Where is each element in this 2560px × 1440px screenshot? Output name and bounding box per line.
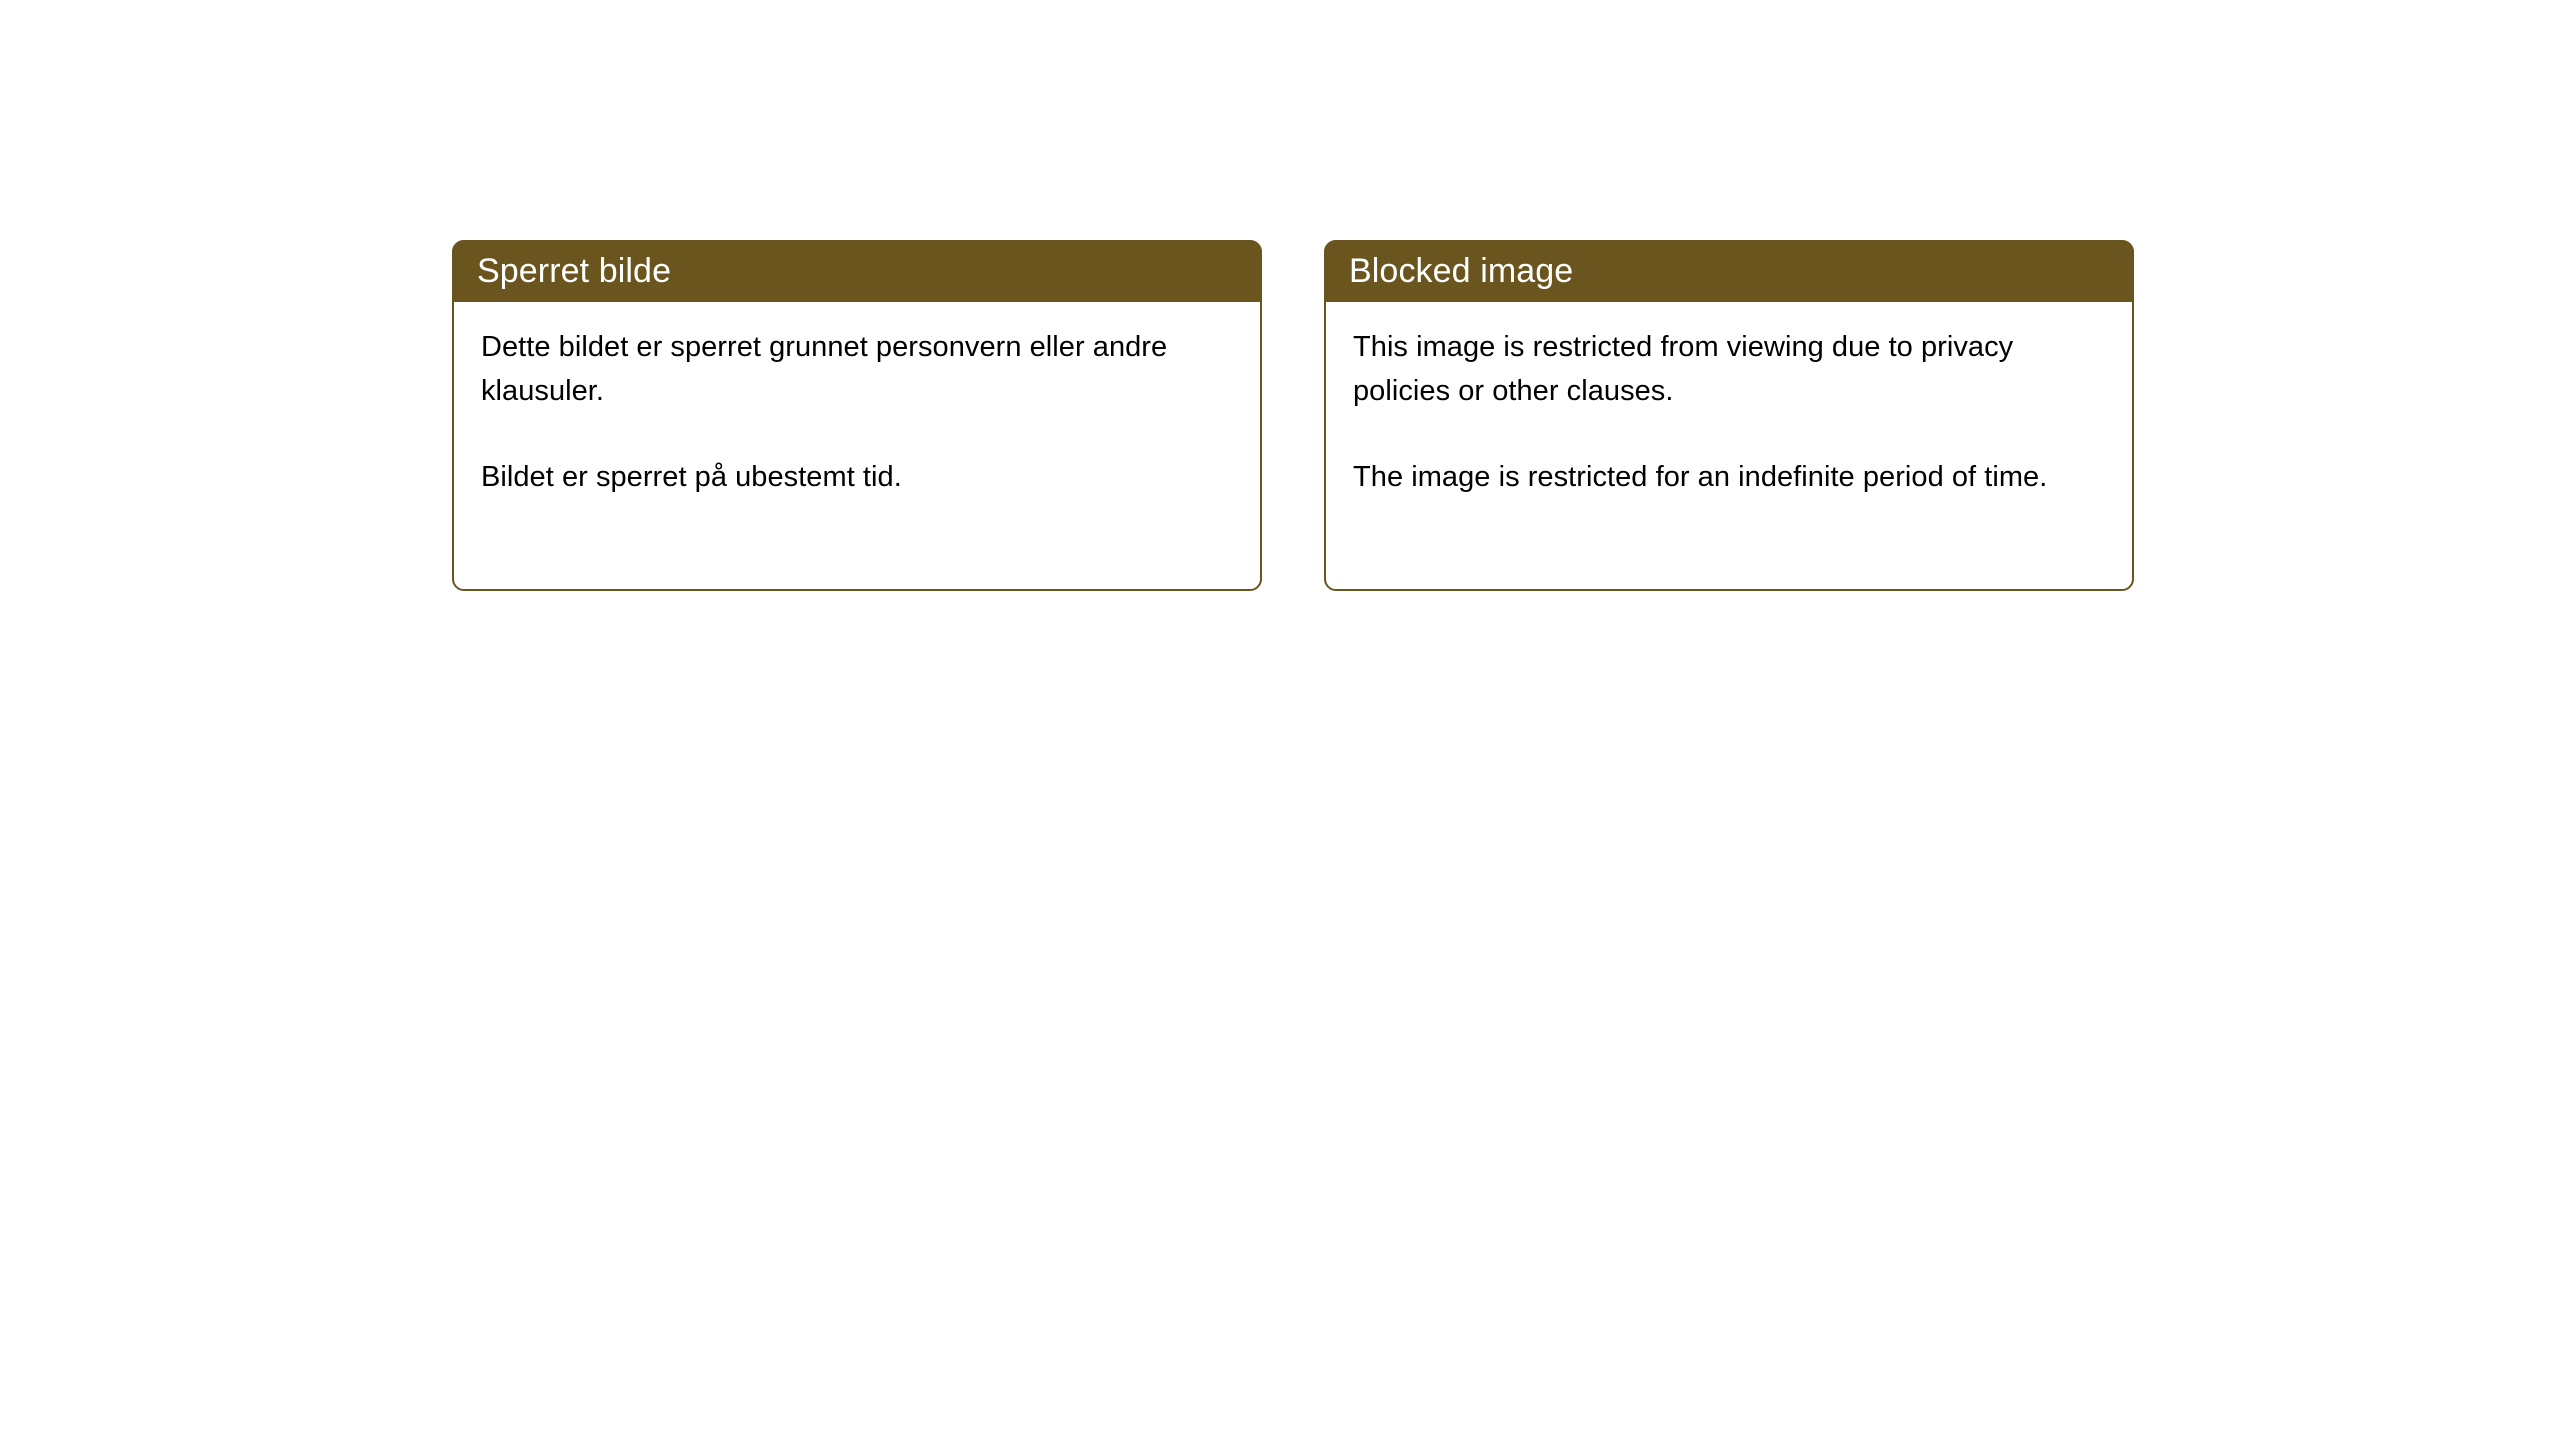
panel-body-norwegian: Dette bildet er sperret grunnet personve… bbox=[454, 302, 1260, 589]
panel-header-norwegian: Sperret bilde bbox=[452, 240, 1262, 302]
panel-paragraph-restriction-reason-norwegian: Dette bildet er sperret grunnet personve… bbox=[481, 325, 1234, 413]
page-canvas: Sperret bilde Dette bildet er sperret gr… bbox=[0, 0, 2560, 1440]
panel-title-english: Blocked image bbox=[1349, 251, 1573, 291]
panel-body-english: This image is restricted from viewing du… bbox=[1326, 302, 2132, 589]
panel-title-norwegian: Sperret bilde bbox=[477, 251, 671, 291]
blocked-image-notice-norwegian: Sperret bilde Dette bildet er sperret gr… bbox=[452, 240, 1262, 591]
panel-paragraph-restriction-duration-english: The image is restricted for an indefinit… bbox=[1353, 455, 2106, 499]
panel-header-english: Blocked image bbox=[1324, 240, 2134, 302]
panel-paragraph-restriction-reason-english: This image is restricted from viewing du… bbox=[1353, 325, 2106, 413]
panel-paragraph-restriction-duration-norwegian: Bildet er sperret på ubestemt tid. bbox=[481, 455, 1234, 499]
notice-panel-group: Sperret bilde Dette bildet er sperret gr… bbox=[452, 240, 2134, 591]
blocked-image-notice-english: Blocked image This image is restricted f… bbox=[1324, 240, 2134, 591]
